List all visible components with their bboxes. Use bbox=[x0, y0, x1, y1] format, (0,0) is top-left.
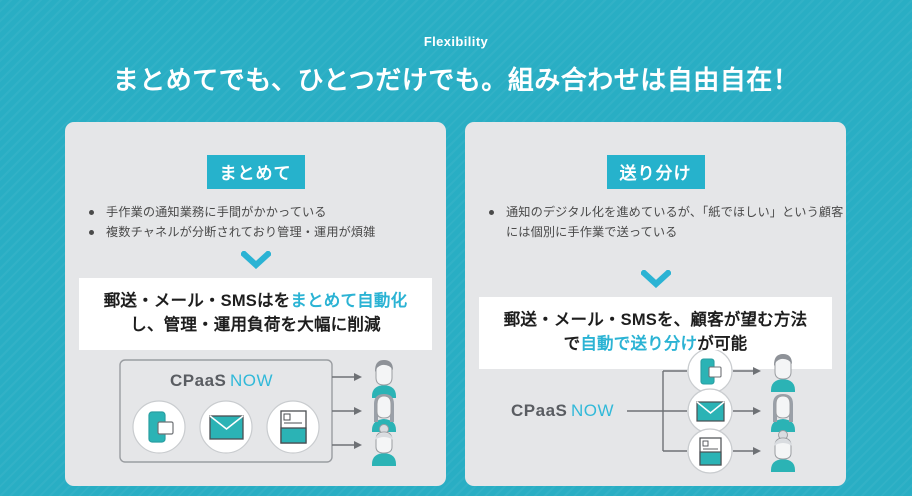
chevron-down-icon bbox=[65, 251, 446, 273]
card-container: まとめて 手作業の通知業務に手間がかかっている 複数チャネルが分断されており管理… bbox=[65, 122, 847, 486]
avatar-woman-long-hair bbox=[771, 394, 795, 432]
highlight-line2: し、管理・運用負荷を大幅に削減 bbox=[130, 316, 381, 334]
pain-point-list: 手作業の通知業務に手間がかかっている 複数チャネルが分断されており管理・運用が煩… bbox=[87, 203, 446, 243]
sms-phone-icon bbox=[133, 401, 185, 453]
highlight-statement: 郵送・メール・SMSはをまとめて自動化 し、管理・運用負荷を大幅に削減 bbox=[79, 278, 432, 351]
svg-text:CPaaS: CPaaS bbox=[170, 371, 226, 390]
diagram-branching: CPaaS NOW bbox=[465, 350, 846, 480]
page-background: Flexibility まとめてでも、ひとつだけでも。組み合わせは自由自在！ ま… bbox=[0, 0, 912, 496]
card-okuriwake[interactable]: 送り分け 通知のデジタル化を進めているが、「紙でほしい」という顧客には個別に手作… bbox=[465, 122, 846, 486]
highlight-line1-pre: 郵送・メール・SMSはを bbox=[104, 292, 291, 310]
highlight-line1: 郵送・メール・SMSを、顧客が望む方法 bbox=[504, 311, 808, 329]
avatar-man-short-hair bbox=[771, 354, 795, 392]
chevron-down-icon bbox=[465, 270, 846, 292]
status-badge: 送り分け bbox=[607, 155, 705, 189]
page-header: Flexibility まとめてでも、ひとつだけでも。組み合わせは自由自在！ bbox=[0, 0, 912, 97]
email-envelope-icon bbox=[688, 389, 732, 433]
list-item: 複数チャネルが分断されており管理・運用が煩雑 bbox=[87, 223, 446, 243]
svg-text:NOW: NOW bbox=[571, 401, 614, 420]
diagram-grouped: CPaaS NOW bbox=[65, 350, 446, 480]
badge-wrap: 送り分け bbox=[465, 122, 846, 189]
status-badge: まとめて bbox=[207, 155, 305, 189]
avatar-man-short-hair bbox=[372, 360, 396, 398]
avatar-woman-bun bbox=[771, 431, 795, 473]
eyebrow-label: Flexibility bbox=[0, 34, 912, 49]
pain-point-list: 通知のデジタル化を進めているが、「紙でほしい」という顧客には個別に手作業で送って… bbox=[487, 203, 846, 243]
page-title: まとめてでも、ひとつだけでも。組み合わせは自由自在！ bbox=[0, 60, 912, 97]
postal-letter-icon bbox=[267, 401, 319, 453]
svg-text:NOW: NOW bbox=[230, 371, 273, 390]
email-envelope-icon bbox=[200, 401, 252, 453]
list-item: 手作業の通知業務に手間がかかっている bbox=[87, 203, 446, 223]
svg-text:CPaaS: CPaaS bbox=[511, 401, 567, 420]
highlight-line1-accent: まとめて自動化 bbox=[290, 292, 407, 310]
sms-phone-icon bbox=[688, 350, 732, 393]
badge-wrap: まとめて bbox=[65, 122, 446, 189]
card-matomete[interactable]: まとめて 手作業の通知業務に手間がかかっている 複数チャネルが分断されており管理… bbox=[65, 122, 446, 486]
list-item: 通知のデジタル化を進めているが、「紙でほしい」という顧客には個別に手作業で送って… bbox=[487, 203, 846, 243]
postal-letter-icon bbox=[688, 429, 732, 473]
